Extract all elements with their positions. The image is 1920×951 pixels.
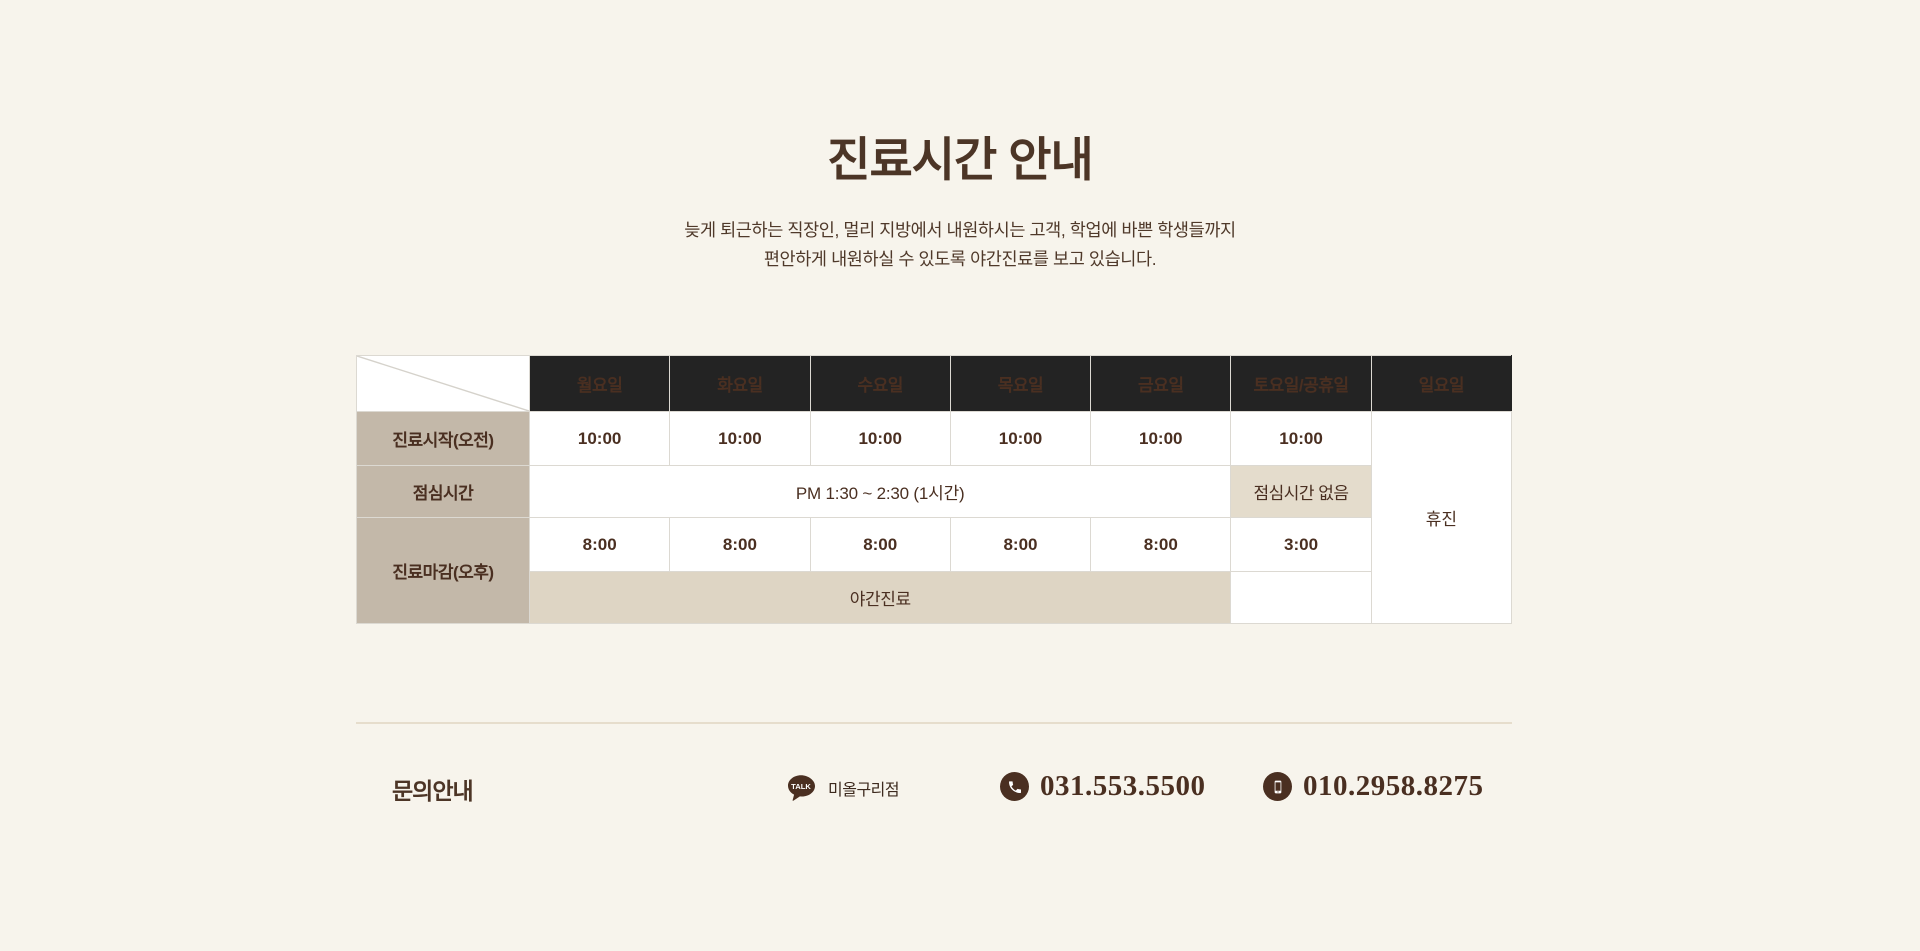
column-header-thu: 목요일: [950, 356, 1090, 412]
evening-tue: 8:00: [670, 518, 810, 572]
morning-mon: 10:00: [530, 412, 670, 466]
lunch-saturday: 점심시간 없음: [1231, 466, 1371, 518]
mobile-number: 010.2958.8275: [1303, 772, 1484, 801]
contact-section: 문의안내 TALK 미올구리점 031.553.5500: [356, 760, 1512, 820]
contact-item-kakao[interactable]: TALK 미올구리점: [785, 772, 899, 804]
kakao-label: 미올구리점: [828, 776, 899, 800]
table-row-night-clinic: 야간진료: [357, 572, 1512, 624]
subtitle-line-2: 편안하게 내원하실 수 있도록 야간진료를 보고 있습니다.: [0, 245, 1920, 273]
table-row-evening: 진료마감(오후) 8:00 8:00 8:00 8:00 8:00 3:00: [357, 518, 1512, 572]
row-label-lunch: 점심시간: [357, 466, 530, 518]
page-title: 진료시간 안내: [0, 132, 1920, 188]
corner-cell: [357, 356, 530, 412]
morning-thu: 10:00: [950, 412, 1090, 466]
mobile-phone-icon: [1263, 772, 1292, 801]
morning-sat: 10:00: [1231, 412, 1371, 466]
schedule-table-wrapper: 월요일 화요일 수요일 목요일 금요일 토요일/공휴일 일요일 진료시작(오전)…: [356, 355, 1512, 624]
evening-thu: 8:00: [950, 518, 1090, 572]
column-header-tue: 화요일: [670, 356, 810, 412]
lunch-weekday: PM 1:30 ~ 2:30 (1시간): [530, 466, 1231, 518]
table-row-morning: 진료시작(오전) 10:00 10:00 10:00 10:00 10:00 1…: [357, 412, 1512, 466]
row-label-evening: 진료마감(오후): [357, 518, 530, 624]
evening-wed: 8:00: [810, 518, 950, 572]
evening-sat: 3:00: [1231, 518, 1371, 572]
sunday-closed-cell: 휴진: [1371, 412, 1511, 624]
evening-mon: 8:00: [530, 518, 670, 572]
contact-title: 문의안내: [392, 772, 473, 806]
morning-fri: 10:00: [1091, 412, 1231, 466]
heading-block: 진료시간 안내 늦게 퇴근하는 직장인, 멀리 지방에서 내원하시는 고객, 학…: [0, 132, 1920, 273]
column-header-fri: 금요일: [1091, 356, 1231, 412]
schedule-table: 월요일 화요일 수요일 목요일 금요일 토요일/공휴일 일요일 진료시작(오전)…: [356, 355, 1512, 624]
night-clinic-sat-blank: [1231, 572, 1371, 624]
morning-tue: 10:00: [670, 412, 810, 466]
diagonal-line-icon: [357, 356, 529, 411]
night-clinic-band: 야간진료: [530, 572, 1231, 624]
column-header-mon: 월요일: [530, 356, 670, 412]
contact-item-mobile[interactable]: 010.2958.8275: [1263, 772, 1484, 801]
row-label-morning: 진료시작(오전): [357, 412, 530, 466]
table-row-lunch: 점심시간 PM 1:30 ~ 2:30 (1시간) 점심시간 없음: [357, 466, 1512, 518]
table-header-row: 월요일 화요일 수요일 목요일 금요일 토요일/공휴일 일요일: [357, 356, 1512, 412]
column-header-sat-holiday: 토요일/공휴일: [1231, 356, 1371, 412]
page-subtitle: 늦게 퇴근하는 직장인, 멀리 지방에서 내원하시는 고객, 학업에 바쁜 학생…: [0, 188, 1920, 273]
phone-icon: [1000, 772, 1029, 801]
column-header-wed: 수요일: [810, 356, 950, 412]
column-header-sun: 일요일: [1371, 356, 1511, 412]
kakaotalk-icon: TALK: [785, 772, 817, 804]
evening-fri: 8:00: [1091, 518, 1231, 572]
svg-text:TALK: TALK: [791, 782, 811, 791]
schedule-page: 진료시간 안내 늦게 퇴근하는 직장인, 멀리 지방에서 내원하시는 고객, 학…: [0, 0, 1920, 951]
contact-item-telephone[interactable]: 031.553.5500: [1000, 772, 1206, 801]
telephone-number: 031.553.5500: [1040, 772, 1206, 801]
subtitle-line-1: 늦게 퇴근하는 직장인, 멀리 지방에서 내원하시는 고객, 학업에 바쁜 학생…: [0, 216, 1920, 244]
morning-wed: 10:00: [810, 412, 950, 466]
footer-divider: [356, 722, 1512, 724]
